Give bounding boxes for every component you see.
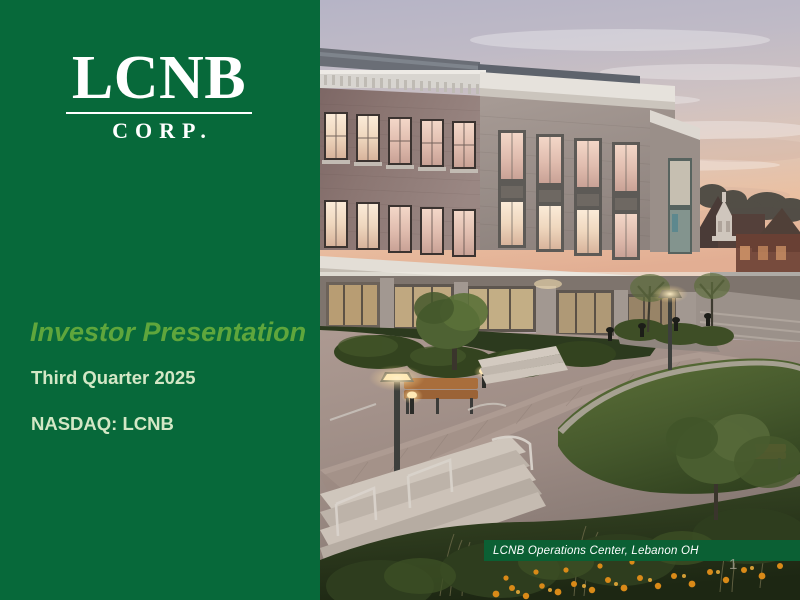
lcnb-logo: LCNB CORP. bbox=[66, 48, 252, 144]
page-number: 1 bbox=[729, 556, 737, 573]
presentation-title: Investor Presentation bbox=[30, 318, 315, 348]
operations-center-photo bbox=[320, 0, 800, 600]
presentation-period: Third Quarter 2025 bbox=[31, 367, 315, 389]
ticker-symbol: NASDAQ: LCNB bbox=[31, 413, 315, 435]
logo-subtitle: CORP. bbox=[66, 118, 252, 144]
presentation-slide: LCNB CORP. Investor Presentation Third Q… bbox=[0, 0, 800, 600]
photo-caption-text: LCNB Operations Center, Lebanon OH bbox=[484, 545, 699, 557]
title-panel: LCNB CORP. Investor Presentation Third Q… bbox=[0, 0, 320, 600]
headline-block: Investor Presentation Third Quarter 2025… bbox=[30, 318, 315, 435]
logo-wordmark: LCNB bbox=[66, 48, 252, 109]
photo-caption-band: LCNB Operations Center, Lebanon OH bbox=[484, 540, 800, 561]
logo-divider-rule bbox=[66, 112, 252, 114]
